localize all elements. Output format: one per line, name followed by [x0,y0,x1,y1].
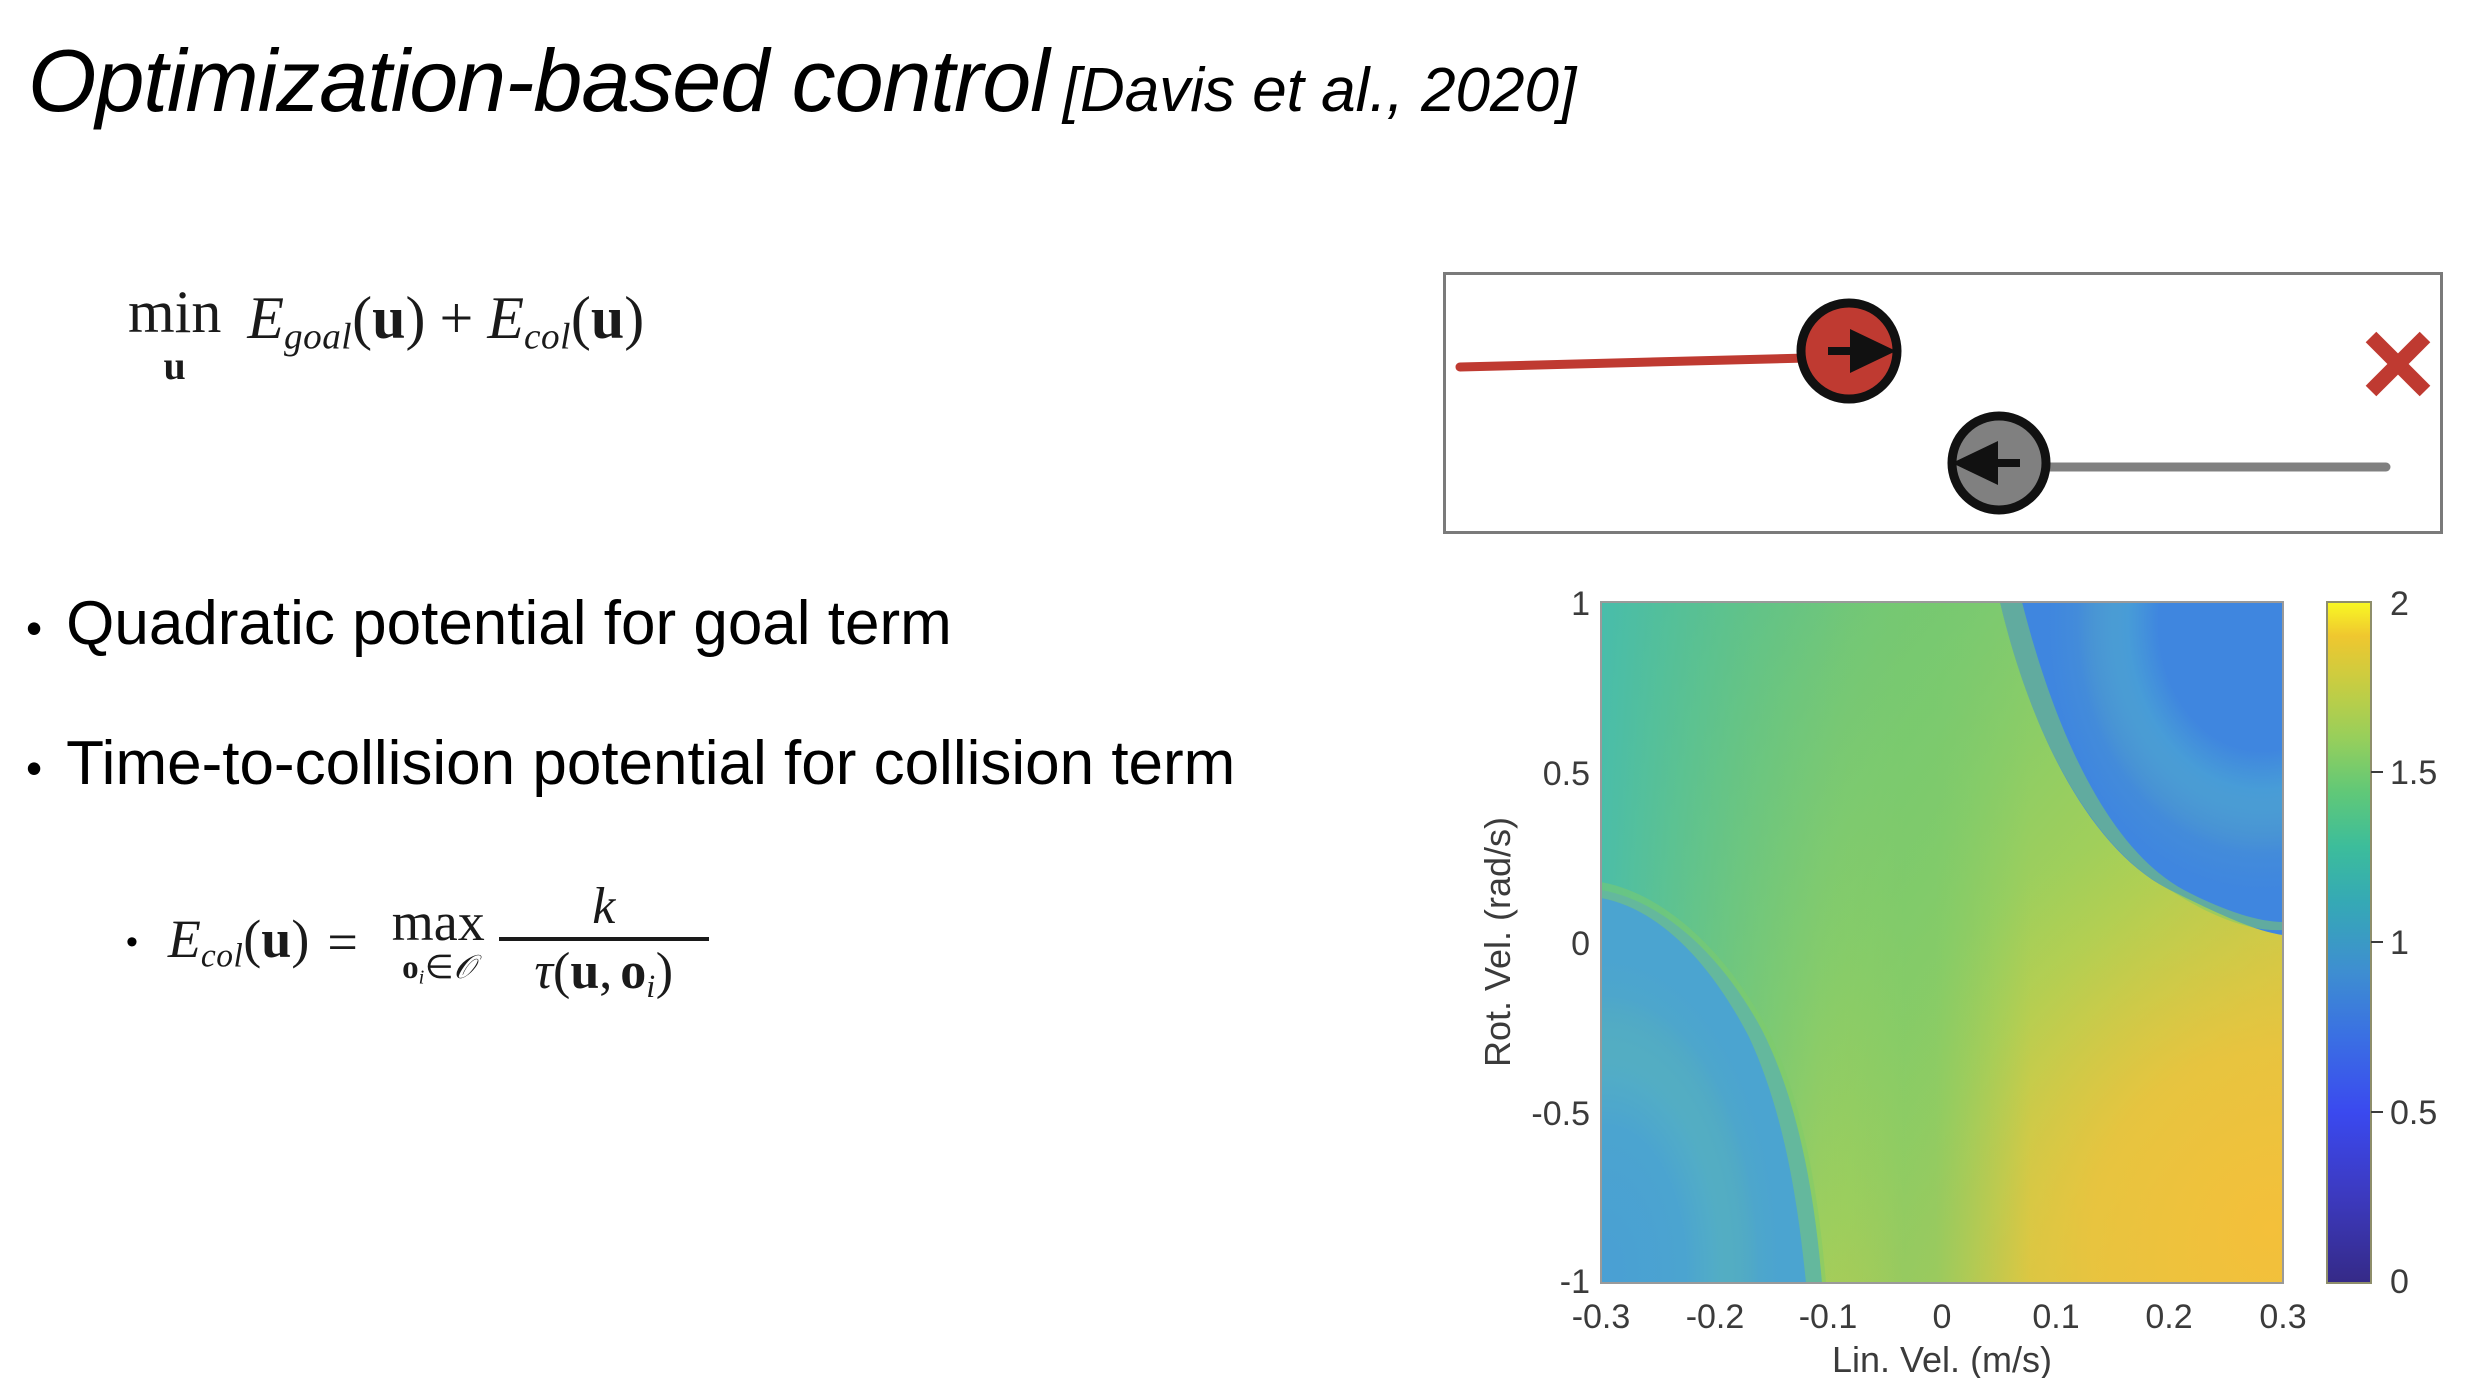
e-goal-argument: u [372,285,405,351]
objective-rhs: Egoal(u)+Ecol(u) [247,282,644,358]
y-tick-label: -1 [1560,1263,1590,1301]
tau-paren-close: ) [656,943,673,1000]
max-operator-label: max [392,895,485,950]
ttc-paren-open: ( [243,909,261,969]
tau-arg-o-subscript: i [646,968,655,1004]
e-col-argument: u [591,285,624,351]
colorbar-tick-labels: 2 1.5 1 0.5 0 [2390,585,2437,1301]
ttc-equation: Ecol(u) = max oi∈𝒪 k τ(u,oi) [168,880,709,1003]
bullet-marker-icon: • [26,745,42,791]
ttc-e-argument: u [261,909,291,969]
bullet-marker-icon: • [26,605,42,651]
e-col-symbol: E [487,285,524,351]
paren-close-1: ) [405,285,425,351]
colorbar-tick-label: 0.5 [2390,1094,2437,1132]
x-tick-label: 0 [1933,1298,1952,1336]
red-agent-trail [1460,357,1846,367]
y-tick-label: 0.5 [1543,755,1590,793]
sub-bullet-item-ttc-equation: • Ecol(u) = max oi∈𝒪 k τ(u,oi) [126,880,709,1003]
min-operator-label: min [128,282,221,342]
robot-scenario-diagram [1443,272,2443,534]
ttc-fraction: k τ(u,oi) [499,880,709,1003]
bullet-item-goal-term: • Quadratic potential for goal term [26,588,952,659]
min-operator-limit: u [164,346,186,386]
ttc-lhs: Ecol(u) [168,908,309,975]
y-axis-ticks: 1 0.5 0 -0.5 -1 [1531,585,1590,1301]
x-tick-label: -0.1 [1799,1298,1858,1336]
e-col-subscript: col [524,316,571,357]
x-tick-label: -0.2 [1686,1298,1745,1336]
plus-operator: + [439,285,473,351]
x-tick-label: 0.3 [2259,1298,2306,1336]
bullet-label: Time-to-collision potential for collisio… [66,728,1235,799]
max-operator-limit: oi∈𝒪 [402,952,474,989]
x-tick-label: 0.1 [2032,1298,2079,1336]
colorbar-gradient [2327,602,2371,1283]
ttc-paren-close: ) [291,909,309,969]
e-goal-symbol: E [247,285,284,351]
paren-open-1: ( [352,285,372,351]
y-axis-label: Rot. Vel. (rad/s) [1477,817,1518,1067]
paren-close-2: ) [624,285,644,351]
y-tick-label: 0 [1571,925,1590,963]
y-tick-label: -0.5 [1531,1095,1590,1133]
red-agent [1801,303,1897,399]
e-goal-subscript: goal [284,316,352,357]
colorbar-tick-label: 0 [2390,1263,2409,1301]
tau-arg-u: u [570,943,599,1000]
max-operator: max oi∈𝒪 [392,895,485,989]
max-limit-var: o [402,950,419,986]
sub-bullet-marker-icon: • [126,925,138,959]
tau-symbol: τ [534,943,553,1000]
ttc-equals: = [327,911,357,973]
colorbar-tick-label: 1 [2390,924,2409,962]
objective-equation: min u Egoal(u)+Ecol(u) [128,282,644,386]
page-title-main: Optimization-based control [28,31,1049,130]
x-tick-label: -0.3 [1572,1298,1631,1336]
ttc-denominator: τ(u,oi) [524,941,683,1004]
max-limit-set: 𝒪 [454,950,475,986]
goal-x-marker-icon [2371,337,2425,391]
ttc-e-subscript: col [201,937,243,974]
tau-arg-o: o [620,943,646,1000]
tau-comma: , [599,943,612,1000]
bullet-item-collision-term: • Time-to-collision potential for collis… [26,728,1235,799]
x-tick-label: 0.2 [2145,1298,2192,1336]
colorbar-tick-label: 2 [2390,585,2409,623]
contour-field [1601,602,2283,1283]
x-axis-ticks: -0.3 -0.2 -0.1 0 0.1 0.2 0.3 [1572,1298,2307,1336]
ttc-e-symbol: E [168,909,201,969]
cost-landscape-plot: 1 0.5 0 -0.5 -1 Rot. Vel. (rad/s) -0.3 -… [1470,560,2466,1378]
colorbar: 2 1.5 1 0.5 0 [2327,585,2437,1301]
paren-open-2: ( [571,285,591,351]
x-axis-label: Lin. Vel. (m/s) [1832,1339,2052,1378]
colorbar-ticks [2371,772,2383,1112]
bullet-label: Quadratic potential for goal term [66,588,952,659]
tau-paren-open: ( [553,943,570,1000]
max-limit-member-icon: ∈ [425,950,454,986]
y-tick-label: 1 [1571,585,1590,623]
min-operator: min u [128,282,221,386]
colorbar-tick-label: 1.5 [2390,754,2437,792]
ttc-numerator: k [576,880,631,937]
page-title-citation: [Davis et al., 2020] [1063,56,1577,125]
page-title: Optimization-based control[Davis et al.,… [28,30,1576,132]
gray-agent [1952,416,2046,510]
